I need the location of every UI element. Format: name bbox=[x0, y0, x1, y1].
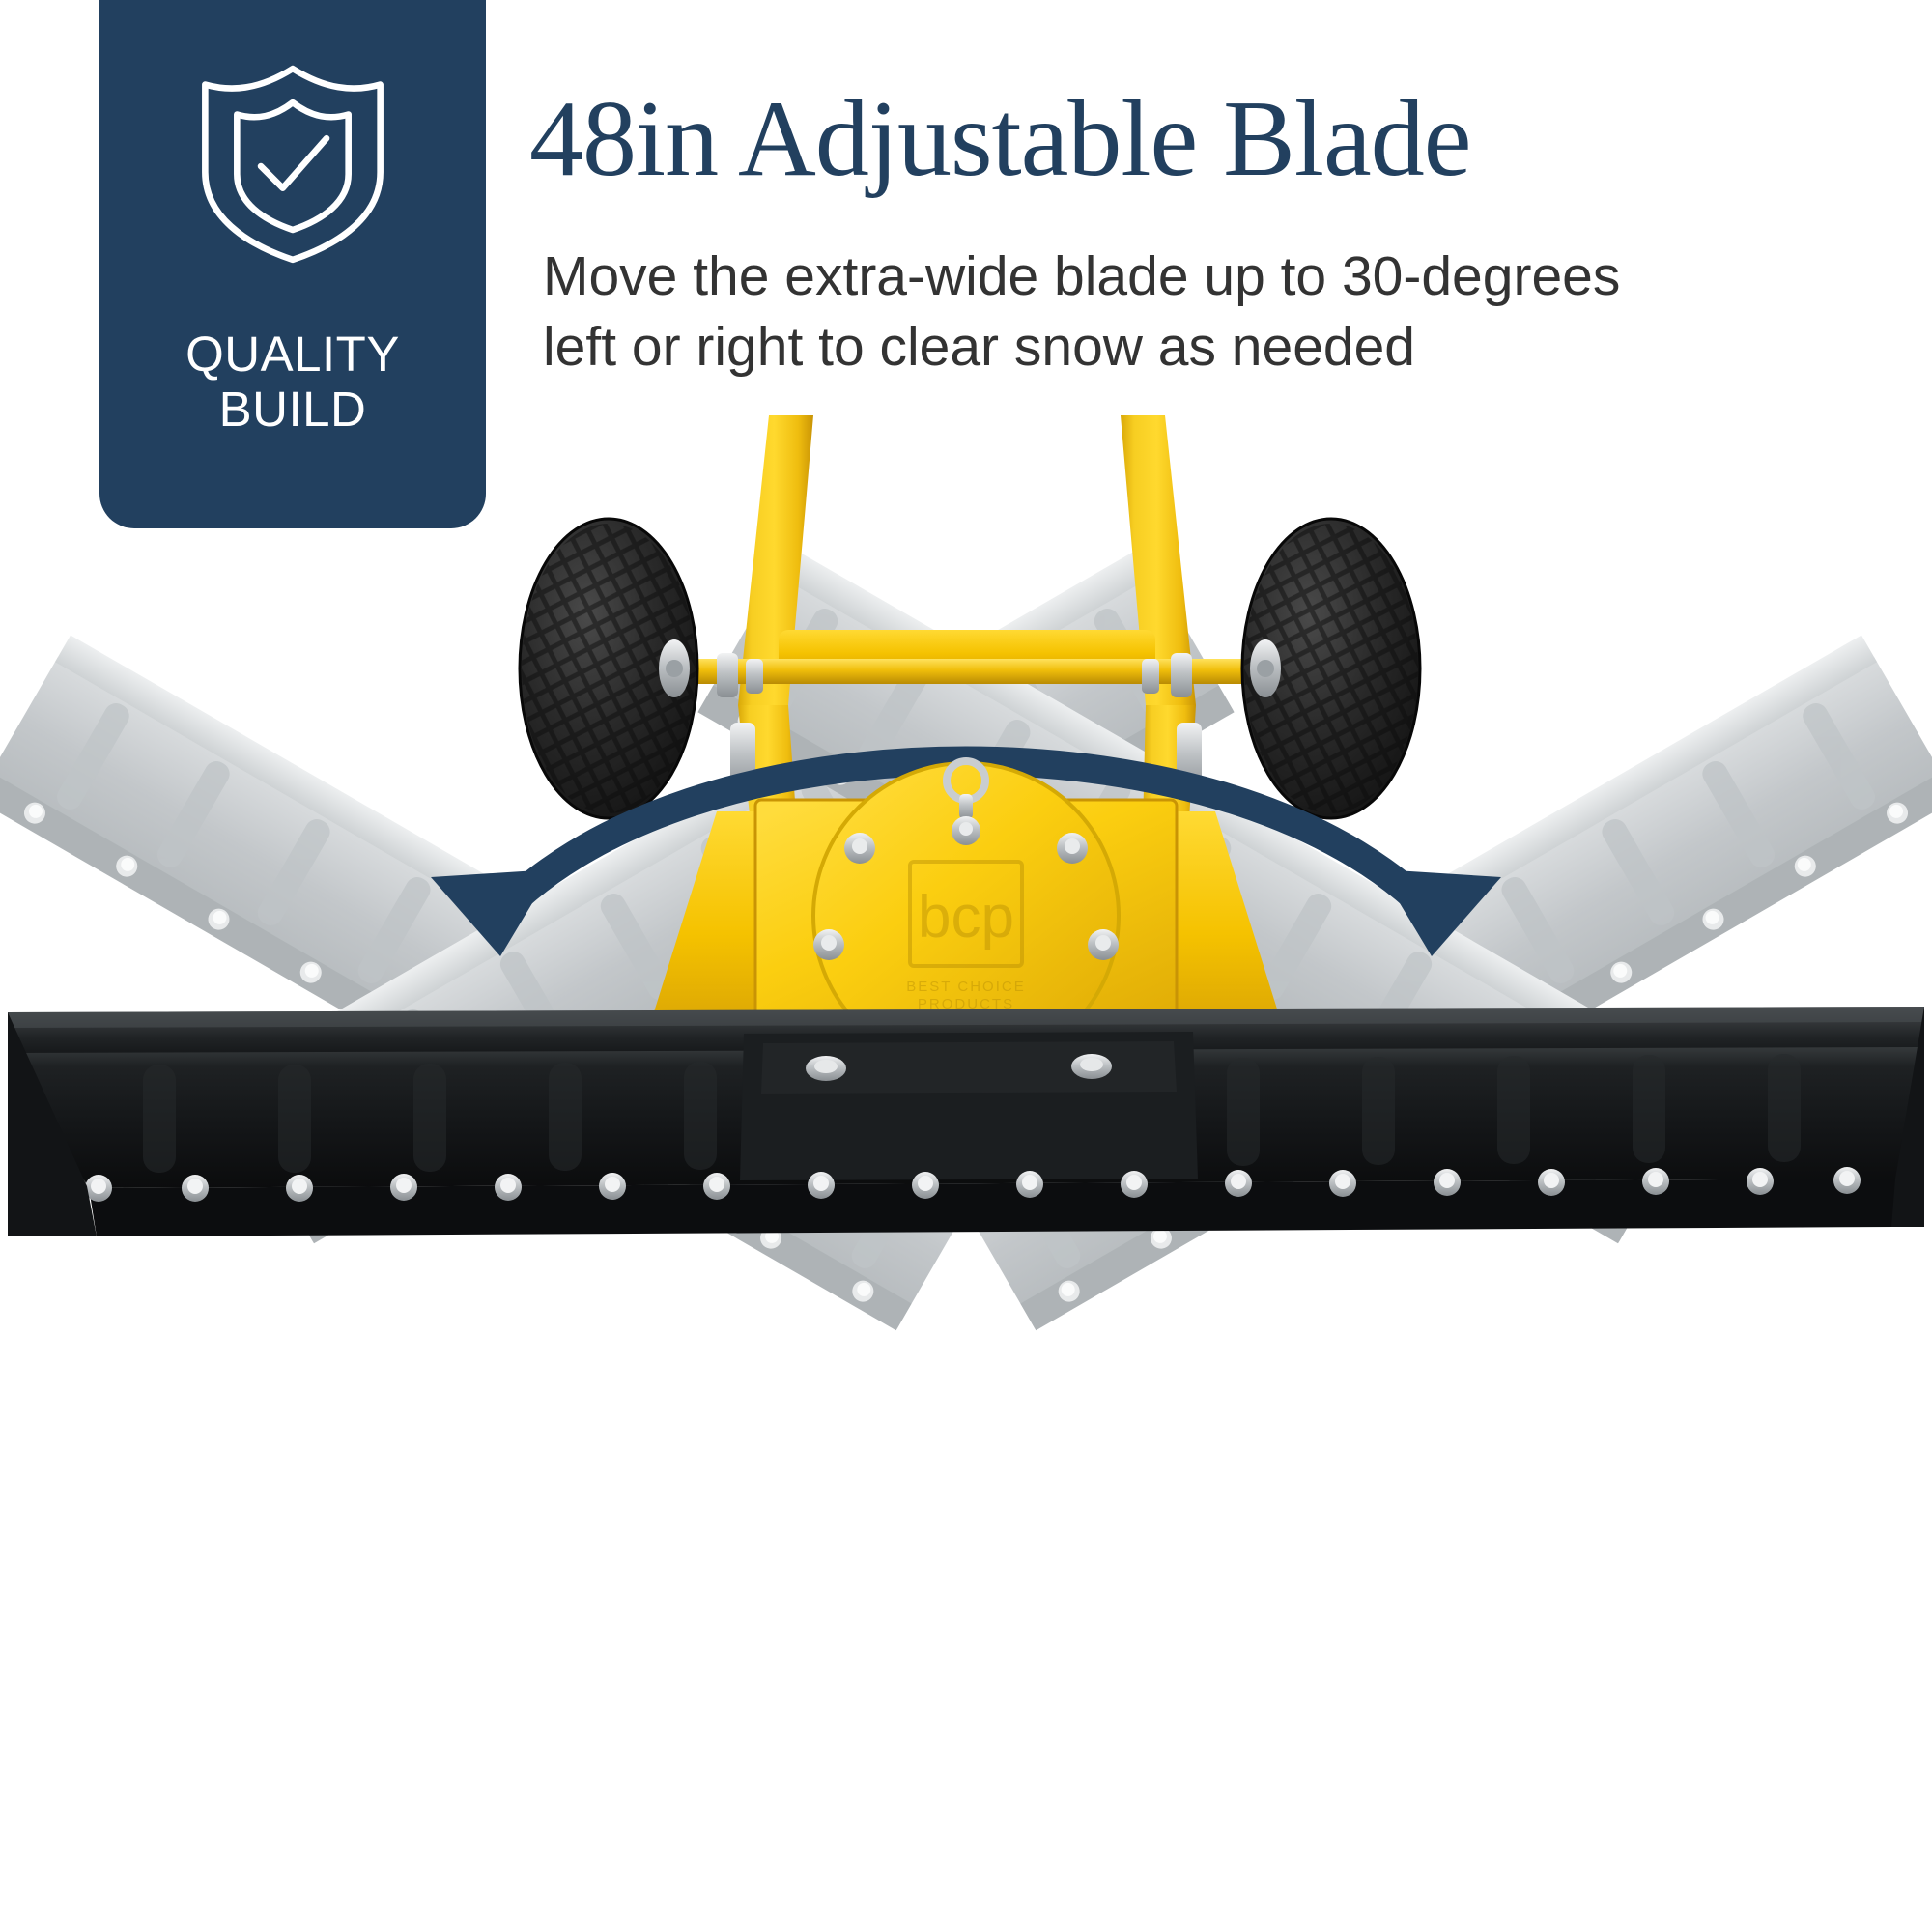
infographic-canvas: QUALITY BUILD 48in Adjustable Blade Move… bbox=[0, 0, 1932, 1932]
bcp-logo: bcp BEST CHOICE PRODUCTS bbox=[906, 862, 1025, 1012]
wheel-left bbox=[512, 509, 705, 828]
page-title: 48in Adjustable Blade bbox=[529, 85, 1795, 193]
svg-text:bcp: bcp bbox=[918, 884, 1014, 951]
page-subtitle: Move the extra-wide blade up to 30-degre… bbox=[543, 241, 1828, 383]
subtitle-line-2: left or right to clear snow as needed bbox=[543, 312, 1828, 383]
product-illustration: bcp BEST CHOICE PRODUCTS bbox=[0, 415, 1932, 1932]
subtitle-line-1: Move the extra-wide blade up to 30-degre… bbox=[543, 241, 1828, 312]
svg-text:BEST CHOICE: BEST CHOICE bbox=[906, 979, 1025, 995]
main-blade bbox=[8, 1007, 1924, 1236]
badge-line-1: QUALITY bbox=[185, 327, 400, 382]
wheel-right bbox=[1235, 509, 1428, 828]
shield-check-icon bbox=[193, 60, 392, 269]
